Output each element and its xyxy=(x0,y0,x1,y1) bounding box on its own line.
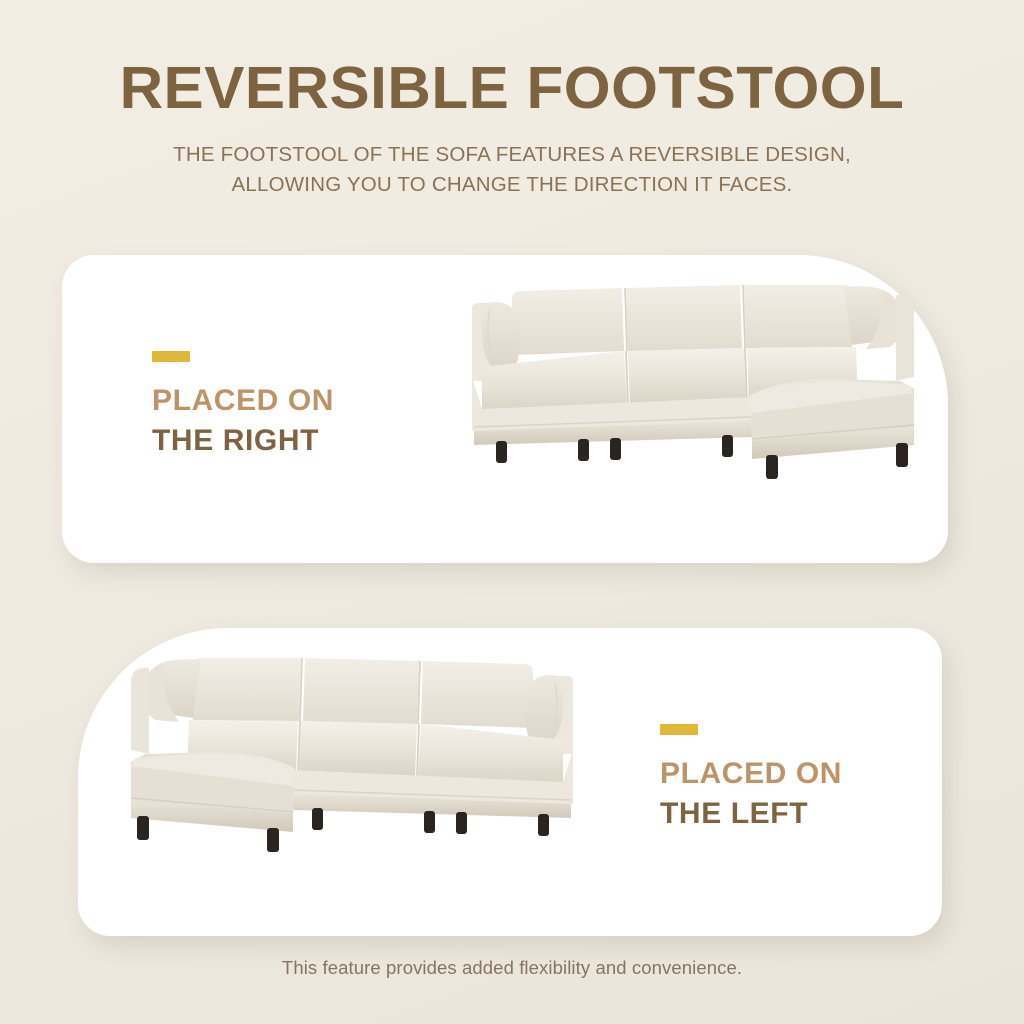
sofa-leg xyxy=(312,808,323,830)
sofa-leg xyxy=(496,441,507,463)
card-placed-on-the-left[interactable]: PLACED ON THE LEFT xyxy=(78,628,942,936)
sofa-left-svg xyxy=(98,628,598,936)
sofa-leg xyxy=(610,438,621,460)
card-label-line-2: THE RIGHT xyxy=(152,421,334,461)
card-label-line-2: THE LEFT xyxy=(660,794,842,834)
header: REVERSIBLE FOOTSTOOL THE FOOTSTOOL OF TH… xyxy=(0,58,1024,200)
accent-bar-icon xyxy=(660,724,698,735)
sofa-image-right xyxy=(452,255,942,563)
page-title: REVERSIBLE FOOTSTOOL xyxy=(0,58,1024,118)
page-subtitle-line-2: ALLOWING YOU TO CHANGE THE DIRECTION IT … xyxy=(102,170,922,200)
sofa-leg xyxy=(896,443,908,467)
page-subtitle-line-1: THE FOOTSTOOL OF THE SOFA FEATURES A REV… xyxy=(102,140,922,170)
sofa-leg xyxy=(267,828,279,852)
label-block-left: PLACED ON THE LEFT xyxy=(660,724,842,834)
sofa-leg xyxy=(538,814,549,836)
sofa-leg xyxy=(766,455,778,479)
poster-canvas: REVERSIBLE FOOTSTOOL THE FOOTSTOOL OF TH… xyxy=(0,0,1024,1024)
sofa-image-left xyxy=(98,628,598,936)
footnote: This feature provides added flexibility … xyxy=(0,957,1024,979)
sofa-leg xyxy=(424,811,435,833)
accent-bar-icon xyxy=(152,351,190,362)
card-label-line-1: PLACED ON xyxy=(660,754,842,794)
card-placed-on-the-right[interactable]: PLACED ON THE RIGHT xyxy=(62,255,948,563)
sofa-right-svg xyxy=(452,255,942,563)
sofa-leg xyxy=(722,435,733,457)
sofa-leg xyxy=(137,816,149,840)
card-label-line-1: PLACED ON xyxy=(152,381,334,421)
page-subtitle: THE FOOTSTOOL OF THE SOFA FEATURES A REV… xyxy=(102,140,922,199)
sofa-leg xyxy=(456,812,467,834)
label-block-right: PLACED ON THE RIGHT xyxy=(152,351,334,461)
sofa-leg xyxy=(578,439,589,461)
